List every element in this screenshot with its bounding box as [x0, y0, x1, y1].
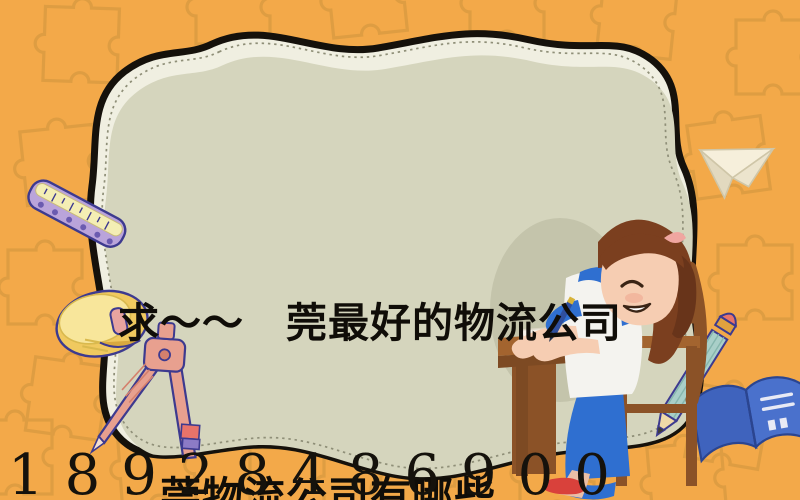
ruler-icon: [24, 176, 130, 251]
banner-image: 求～～莞最好的物流公司 莞物流公司有哪些 18928486900: [0, 0, 800, 500]
headline-line1-prefix: 求～～: [118, 299, 244, 347]
headline-line-1: 求～～莞最好的物流公司: [118, 294, 718, 352]
phone-number: 18928486900: [8, 448, 631, 500]
headline-line1-rest: 莞最好的物流公司: [286, 299, 622, 347]
